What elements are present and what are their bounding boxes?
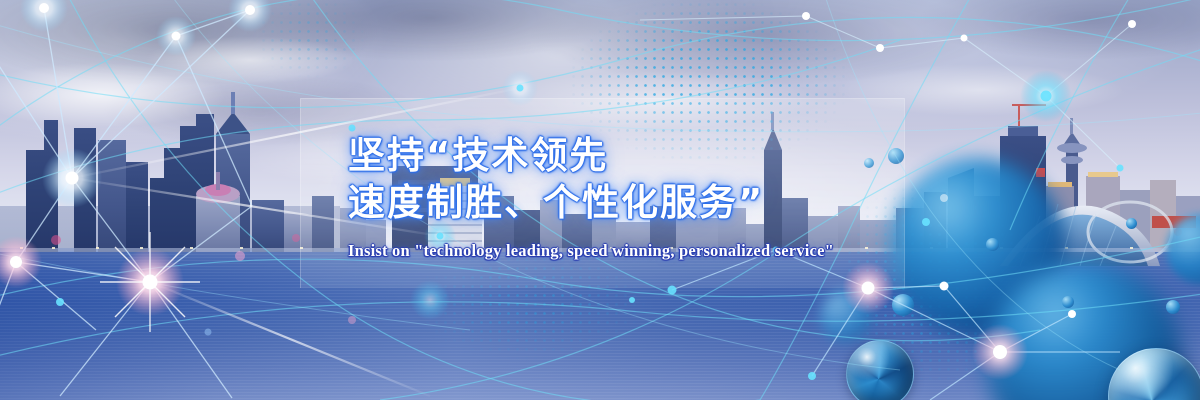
harbour-water	[0, 248, 1200, 400]
hero-banner: 坚持“技术领先 速度制胜、个性化服务” Insist on "technolog…	[0, 0, 1200, 400]
dark-cloud-layer	[0, 0, 1200, 180]
